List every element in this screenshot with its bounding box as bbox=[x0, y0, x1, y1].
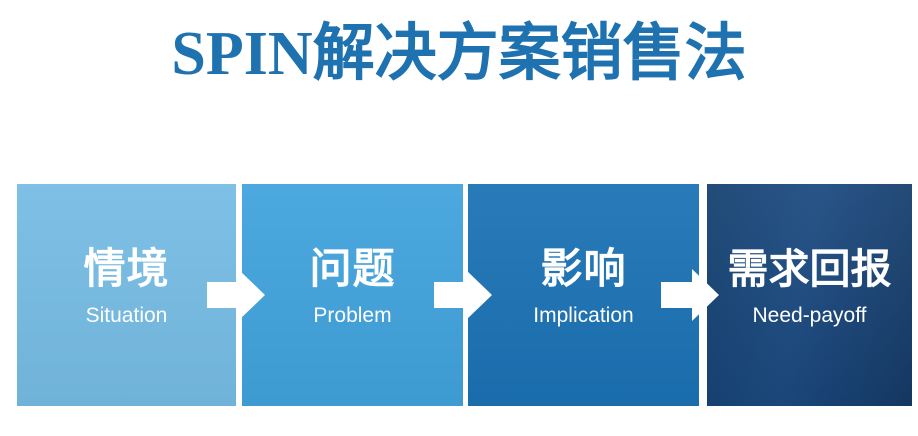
stage-situation-label-en: Situation bbox=[17, 302, 236, 330]
right-arrow-icon-3 bbox=[661, 269, 719, 321]
slide-canvas: SPIN解决方案销售法 情境 Situation 问题 Problem 影响 I… bbox=[0, 0, 918, 436]
right-arrow-icon-1 bbox=[207, 269, 265, 321]
stage-situation-content: 情境 Situation bbox=[17, 244, 236, 330]
right-arrow-icon-2 bbox=[434, 269, 492, 321]
stage-problem-label-en: Problem bbox=[242, 302, 463, 330]
stage-problem-label-cn: 问题 bbox=[242, 244, 463, 294]
stage-need-payoff-label-en: Need-payoff bbox=[707, 302, 912, 330]
stage-need-payoff-content: 需求回报 Need-payoff bbox=[707, 244, 912, 330]
stage-need-payoff-label-cn: 需求回报 bbox=[707, 244, 912, 294]
stage-problem-content: 问题 Problem bbox=[242, 244, 463, 330]
stage-situation-label-cn: 情境 bbox=[17, 244, 236, 294]
stage-problem[interactable]: 问题 Problem bbox=[242, 184, 463, 406]
stage-need-payoff[interactable]: 需求回报 Need-payoff bbox=[707, 184, 912, 406]
stage-situation[interactable]: 情境 Situation bbox=[17, 184, 236, 406]
page-title: SPIN解决方案销售法 bbox=[0, 18, 918, 90]
